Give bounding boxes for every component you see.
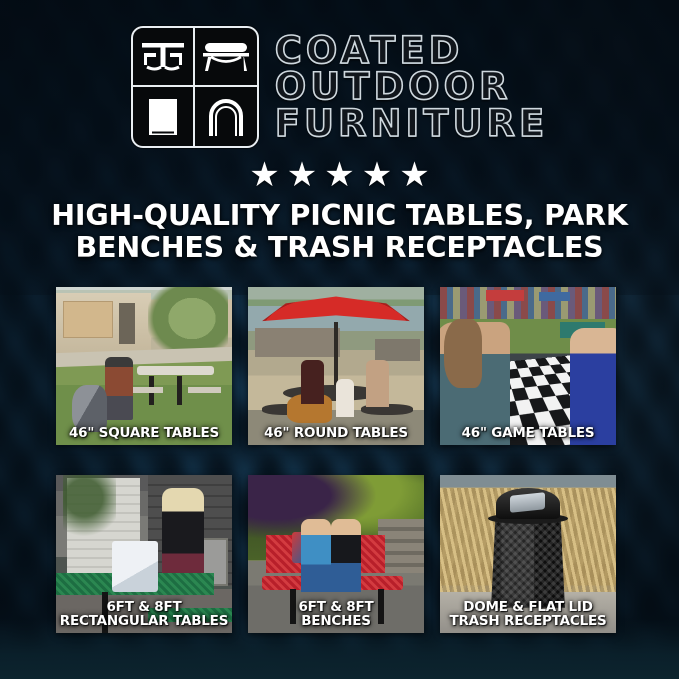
product-photo xyxy=(56,287,232,445)
product-caption-line-1: 46" GAME TABLES xyxy=(442,426,614,441)
star-icon: ★ xyxy=(249,158,279,192)
star-icon: ★ xyxy=(362,158,392,192)
star-rating: ★ ★ ★ ★ ★ xyxy=(0,158,679,192)
headline: HIGH-QUALITY PICNIC TABLES, PARK BENCHES… xyxy=(30,200,649,264)
product-tile[interactable]: 6FT & 8FT RECTANGULAR TABLES xyxy=(56,475,232,633)
promotional-banner: COATED OUTDOOR FURNITURE ★ ★ ★ ★ ★ HIGH-… xyxy=(0,0,679,679)
star-icon: ★ xyxy=(287,158,317,192)
product-caption: 6FT & 8FT RECTANGULAR TABLES xyxy=(58,600,230,629)
logo-icon-grid xyxy=(131,26,259,148)
product-category-grid: 46" SQUARE TABLES 46" ROUND TABLES xyxy=(56,287,624,633)
product-caption: 6FT & 8FT BENCHES xyxy=(250,600,422,629)
product-caption: 46" GAME TABLES xyxy=(442,426,614,441)
product-tile[interactable]: DOME & FLAT LID TRASH RECEPTACLES xyxy=(440,475,616,633)
brand-logo: COATED OUTDOOR FURNITURE xyxy=(0,26,679,148)
product-caption-line-1: 46" ROUND TABLES xyxy=(250,426,422,441)
product-caption-line-2: RECTANGULAR TABLES xyxy=(58,614,230,629)
product-caption: DOME & FLAT LID TRASH RECEPTACLES xyxy=(442,600,614,629)
product-tile[interactable]: 46" GAME TABLES xyxy=(440,287,616,445)
product-photo xyxy=(248,287,424,445)
product-caption: 46" SQUARE TABLES xyxy=(58,426,230,441)
picnic-table-glyph-icon xyxy=(133,28,195,87)
product-caption-line-2: TRASH RECEPTACLES xyxy=(442,614,614,629)
product-tile[interactable]: 46" SQUARE TABLES xyxy=(56,287,232,445)
brand-name-line-3: FURNITURE xyxy=(275,106,549,142)
star-icon: ★ xyxy=(399,158,429,192)
bench-glyph-icon xyxy=(195,28,257,87)
brand-name-line-2: OUTDOOR xyxy=(275,69,549,105)
trash-receptacle-glyph-icon xyxy=(133,87,195,146)
bike-rack-glyph-icon xyxy=(195,87,257,146)
product-tile[interactable]: 46" ROUND TABLES xyxy=(248,287,424,445)
headline-line-2: BENCHES & TRASH RECEPTACLES xyxy=(30,232,649,264)
brand-name: COATED OUTDOOR FURNITURE xyxy=(275,33,549,142)
product-photo xyxy=(440,287,616,445)
brand-name-line-1: COATED xyxy=(275,33,549,69)
star-icon: ★ xyxy=(324,158,354,192)
product-tile[interactable]: 6FT & 8FT BENCHES xyxy=(248,475,424,633)
product-caption: 46" ROUND TABLES xyxy=(250,426,422,441)
product-caption-line-1: 46" SQUARE TABLES xyxy=(58,426,230,441)
headline-line-1: HIGH-QUALITY PICNIC TABLES, PARK xyxy=(30,200,649,232)
product-caption-line-2: BENCHES xyxy=(250,614,422,629)
